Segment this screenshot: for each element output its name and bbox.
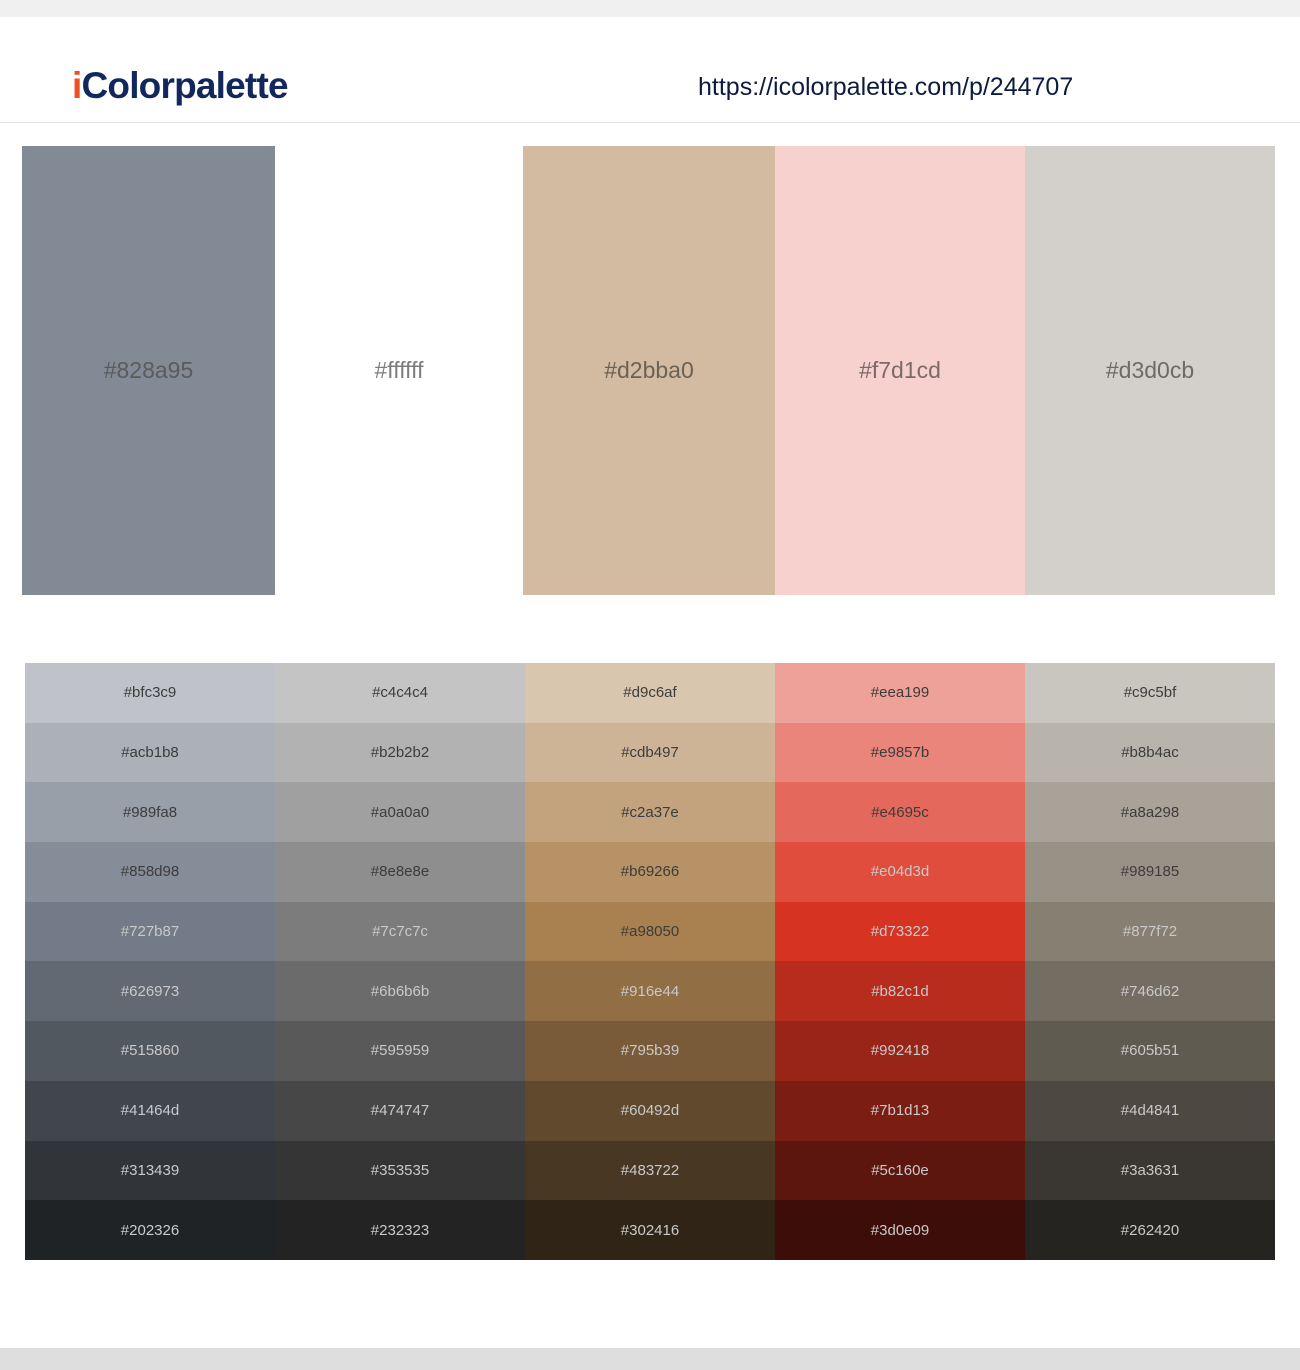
shade-cell[interactable]: #626973	[25, 961, 275, 1021]
shade-cell[interactable]: #515860	[25, 1021, 275, 1081]
shade-grid: #bfc3c9#c4c4c4#d9c6af#eea199#c9c5bf#acb1…	[25, 663, 1275, 1260]
shade-cell[interactable]: #acb1b8	[25, 723, 275, 783]
main-swatch[interactable]: #ffffff	[275, 146, 523, 595]
site-logo[interactable]: iColorpalette	[72, 65, 288, 107]
shade-cell[interactable]: #a8a298	[1025, 782, 1275, 842]
main-swatch[interactable]: #f7d1cd	[775, 146, 1025, 595]
shade-cell[interactable]: #989185	[1025, 842, 1275, 902]
shade-cell[interactable]: #eea199	[775, 663, 1025, 723]
shade-cell[interactable]: #483722	[525, 1141, 775, 1201]
shade-cell[interactable]: #bfc3c9	[25, 663, 275, 723]
logo-wordmark: Colorpalette	[81, 65, 287, 106]
shade-cell[interactable]: #e4695c	[775, 782, 1025, 842]
main-swatch[interactable]: #d3d0cb	[1025, 146, 1275, 595]
palette-page: iColorpalette https://icolorpalette.com/…	[0, 0, 1300, 1370]
shade-cell[interactable]: #e04d3d	[775, 842, 1025, 902]
shade-cell[interactable]: #4d4841	[1025, 1081, 1275, 1141]
footer-background-strip	[0, 1348, 1300, 1370]
shade-cell[interactable]: #605b51	[1025, 1021, 1275, 1081]
shade-cell[interactable]: #7b1d13	[775, 1081, 1025, 1141]
main-swatch-label: #ffffff	[374, 357, 423, 384]
top-background-strip	[0, 0, 1300, 17]
shade-cell[interactable]: #232323	[275, 1200, 525, 1260]
shade-cell[interactable]: #989fa8	[25, 782, 275, 842]
main-swatch-row: #828a95#ffffff#d2bba0#f7d1cd#d3d0cb	[0, 146, 1300, 595]
shade-cell[interactable]: #c2a37e	[525, 782, 775, 842]
shade-cell[interactable]: #262420	[1025, 1200, 1275, 1260]
shade-cell[interactable]: #353535	[275, 1141, 525, 1201]
palette-url: https://icolorpalette.com/p/244707	[698, 73, 1073, 102]
shade-cell[interactable]: #474747	[275, 1081, 525, 1141]
shade-cell[interactable]: #746d62	[1025, 961, 1275, 1021]
site-header: iColorpalette https://icolorpalette.com/…	[0, 17, 1300, 123]
main-swatch-label: #d3d0cb	[1106, 357, 1194, 384]
shade-cell[interactable]: #b2b2b2	[275, 723, 525, 783]
shade-cell[interactable]: #d73322	[775, 902, 1025, 962]
shade-cell[interactable]: #202326	[25, 1200, 275, 1260]
shade-cell[interactable]: #41464d	[25, 1081, 275, 1141]
shade-cell[interactable]: #7c7c7c	[275, 902, 525, 962]
main-swatch[interactable]: #828a95	[22, 146, 275, 595]
shade-cell[interactable]: #302416	[525, 1200, 775, 1260]
shade-cell[interactable]: #858d98	[25, 842, 275, 902]
shade-cell[interactable]: #3d0e09	[775, 1200, 1025, 1260]
main-swatch-label: #d2bba0	[604, 357, 694, 384]
shade-cell[interactable]: #e9857b	[775, 723, 1025, 783]
shade-cell[interactable]: #313439	[25, 1141, 275, 1201]
main-swatch[interactable]: #d2bba0	[523, 146, 775, 595]
shade-cell[interactable]: #727b87	[25, 902, 275, 962]
shade-cell[interactable]: #c9c5bf	[1025, 663, 1275, 723]
shade-cell[interactable]: #992418	[775, 1021, 1025, 1081]
shade-cell[interactable]: #916e44	[525, 961, 775, 1021]
shade-cell[interactable]: #877f72	[1025, 902, 1275, 962]
shade-cell[interactable]: #795b39	[525, 1021, 775, 1081]
shade-cell[interactable]: #595959	[275, 1021, 525, 1081]
shade-cell[interactable]: #a98050	[525, 902, 775, 962]
shade-cell[interactable]: #b8b4ac	[1025, 723, 1275, 783]
shade-cell[interactable]: #6b6b6b	[275, 961, 525, 1021]
shade-cell[interactable]: #a0a0a0	[275, 782, 525, 842]
shade-cell[interactable]: #5c160e	[775, 1141, 1025, 1201]
shade-cell[interactable]: #cdb497	[525, 723, 775, 783]
main-swatch-label: #828a95	[104, 357, 194, 384]
shade-cell[interactable]: #d9c6af	[525, 663, 775, 723]
shade-cell[interactable]: #8e8e8e	[275, 842, 525, 902]
shade-cell[interactable]: #3a3631	[1025, 1141, 1275, 1201]
shade-cell[interactable]: #60492d	[525, 1081, 775, 1141]
shade-cell[interactable]: #b82c1d	[775, 961, 1025, 1021]
shade-cell[interactable]: #b69266	[525, 842, 775, 902]
main-swatch-label: #f7d1cd	[859, 357, 941, 384]
shade-cell[interactable]: #c4c4c4	[275, 663, 525, 723]
